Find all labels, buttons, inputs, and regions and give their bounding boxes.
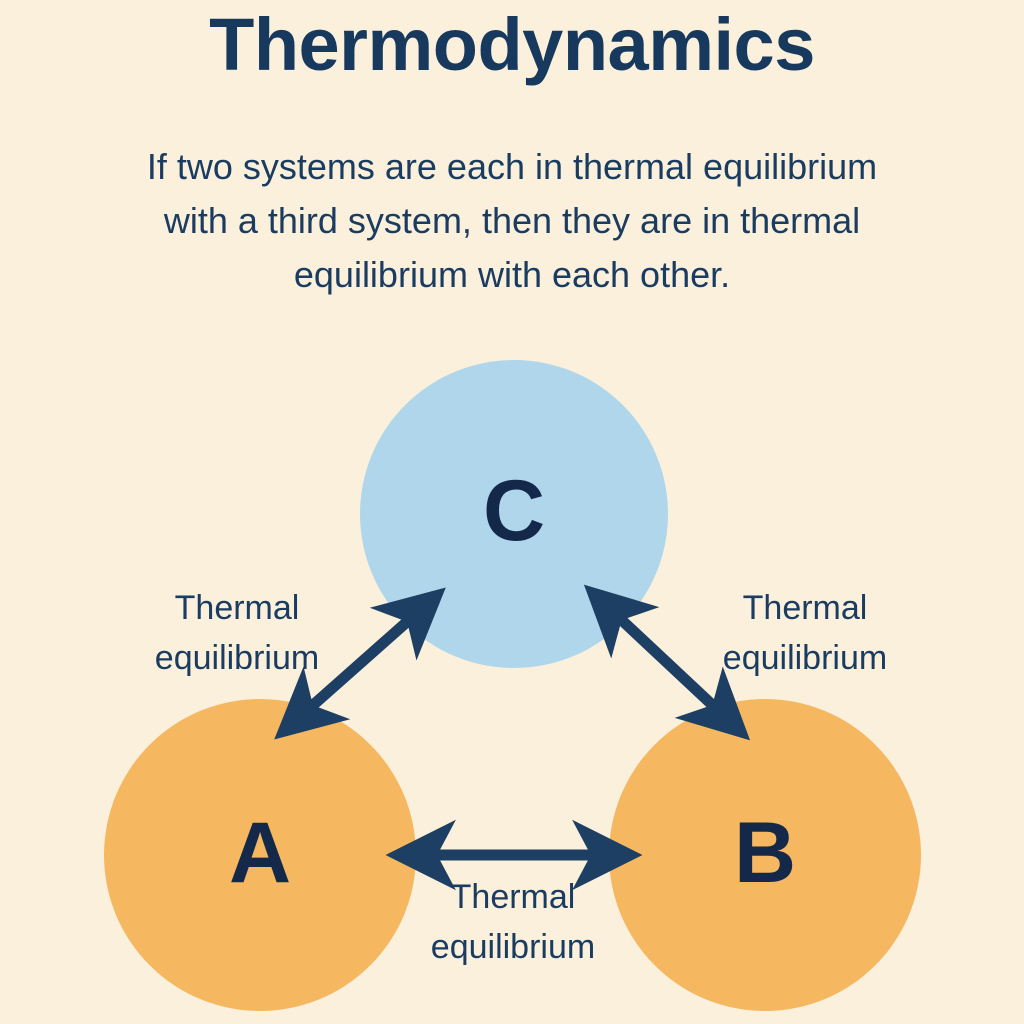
edge-label-a-c: Thermal equilibrium <box>112 583 362 683</box>
equilibrium-diagram <box>0 0 1024 1024</box>
edge-label-a-b-line-2: equilibrium <box>392 922 634 972</box>
edge-label-a-c-line-1: Thermal <box>112 583 362 633</box>
edge-label-a-c-line-2: equilibrium <box>112 633 362 683</box>
edge-label-a-b-line-1: Thermal <box>392 872 634 922</box>
node-circle-b[interactable] <box>609 699 921 1011</box>
node-circle-a[interactable] <box>104 699 416 1011</box>
edge-label-a-b: Thermal equilibrium <box>392 872 634 972</box>
edge-label-b-c: Thermal equilibrium <box>680 583 930 683</box>
edge-label-b-c-line-1: Thermal <box>680 583 930 633</box>
edge-label-b-c-line-2: equilibrium <box>680 633 930 683</box>
poster-canvas: Thermodynamics If two systems are each i… <box>0 0 1024 1024</box>
